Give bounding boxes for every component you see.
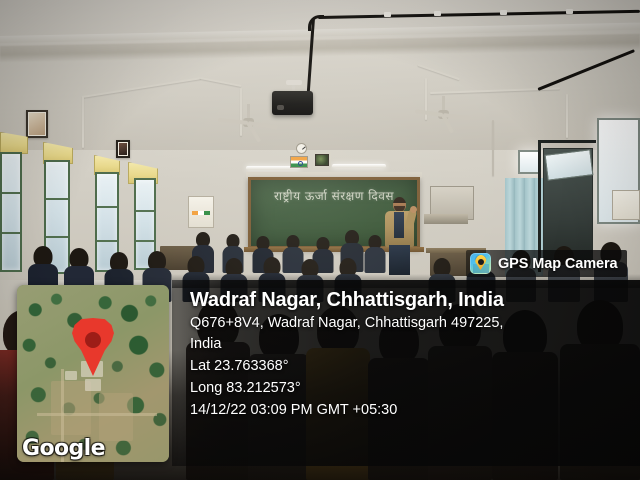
wall-conduit-vertical: [492, 120, 494, 176]
google-watermark: Google: [22, 436, 105, 461]
red-map-pin-icon: [72, 318, 114, 376]
gps-map-camera-app-icon: [470, 253, 491, 274]
tube-light-right: [332, 164, 386, 168]
wall-portrait-frame: [313, 152, 331, 168]
transom-window: [545, 149, 594, 180]
map-road-horizontal: [37, 413, 157, 416]
door-header: [538, 140, 596, 143]
projector-arm: [286, 80, 302, 85]
location-address-line-1: Q676+8V4, Wadraf Nagar, Chhattisgarh 497…: [190, 313, 632, 334]
map-field-2: [99, 393, 133, 441]
location-info-overlay: Google Wadraf Nagar, Chhattisgarh, India…: [0, 280, 640, 466]
ceiling-conduit-left-2: [82, 96, 84, 148]
window-right-2: [518, 150, 540, 174]
ceiling-fan-right: [414, 96, 472, 122]
ceiling-projector: [272, 91, 313, 115]
location-text-block: Wadraf Nagar, Chhattisgarh, India Q676+8…: [190, 288, 632, 421]
cable-clip-4: [566, 9, 573, 14]
gps-map-camera-label: GPS Map Camera: [498, 256, 617, 272]
map-building-2: [85, 379, 101, 391]
wall-poster-right: [612, 190, 640, 220]
app-pin-icon: [475, 255, 487, 270]
cable-clip-3: [500, 10, 507, 15]
projector-lens: [277, 105, 284, 110]
wall-frame-1: [26, 110, 48, 138]
india-flag-icon: [290, 156, 308, 168]
screenshot-root: राष्ट्रीय ऊर्जा संरक्षण दिवस: [0, 0, 640, 480]
location-timestamp: 14/12/22 03:09 PM GMT +05:30: [190, 399, 632, 421]
cable-clip-2: [434, 11, 441, 16]
wall-clock-icon: [296, 143, 307, 154]
side-table: [424, 214, 468, 224]
location-longitude: Long 83.212573°: [190, 377, 632, 399]
wall-frame-2: [116, 140, 130, 158]
location-address-line-2: India: [190, 334, 632, 355]
gps-map-camera-badge: GPS Map Camera: [466, 250, 627, 277]
wall-conduit-right: [566, 94, 568, 138]
wall-poster-left: [188, 196, 214, 228]
cable-clip-1: [384, 12, 391, 17]
map-thumbnail[interactable]: Google: [17, 285, 169, 462]
ceiling-fan-left: [218, 104, 278, 130]
location-title: Wadraf Nagar, Chhattisgarh, India: [190, 288, 632, 313]
location-latitude: Lat 23.763368°: [190, 355, 632, 377]
